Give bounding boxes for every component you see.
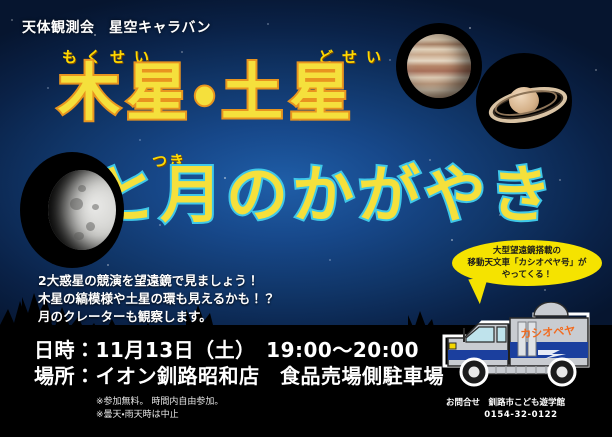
jupiter-photo [396, 23, 482, 109]
bubble-line-1: 大型望遠鏡搭載の [452, 245, 602, 257]
event-notes: ※参加無料。 時間内自由参加。 ※曇天・雨天時は中止 [96, 396, 223, 422]
moon-crater [74, 232, 84, 240]
moon-crater [78, 185, 86, 192]
description-text: 2大惑星の競演を望遠鏡で見ましょう！ 木星の縞模様や土星の環も見えるかも！？ 月… [38, 272, 275, 326]
description-line-3: 月のクレーターも観察します。 [38, 308, 275, 326]
contact-phone: 0154-32-0122 [446, 409, 596, 421]
main-title-line-2: と月のかがやき [94, 164, 556, 226]
description-line-2: 木星の縞模様や土星の環も見えるかも！？ [38, 290, 275, 308]
bubble-line-3: やってくる！ [452, 269, 602, 281]
contact-info: お問合せ 釧路市こども遊学館 0154-32-0122 [446, 397, 596, 421]
moon-photo [20, 152, 124, 268]
event-series-header: 天体観測会 星空キャラバン [22, 17, 211, 37]
moon-crater [86, 222, 95, 231]
event-datetime: 日時：11月13日（土） 19:00～20:00 [34, 337, 444, 363]
note-line-1: ※参加無料。 時間内自由参加。 [96, 396, 223, 409]
moon-crater [92, 204, 99, 210]
main-title-line-1: 木星・土星 [58, 62, 357, 124]
description-line-1: 2大惑星の競演を望遠鏡で見ましょう！ [38, 272, 275, 290]
observatory-truck-illustration: カシオペヤ [438, 302, 612, 394]
contact-organization: お問合せ 釧路市こども遊学館 [446, 397, 596, 409]
bubble-line-2: 移動天文車「カシオペヤ号」が [452, 257, 602, 269]
speech-bubble-text: 大型望遠鏡搭載の 移動天文車「カシオペヤ号」が やってくる！ [452, 245, 602, 281]
poster-root: 天体観測会 星空キャラバン もくせい どせい 木星・土星 つき と月のかがやき … [0, 0, 612, 437]
jupiter-disc [407, 34, 471, 98]
moon-crater [70, 198, 83, 210]
event-venue: 場所：イオン釧路昭和店 食品売場側駐車場 [34, 363, 444, 389]
speech-bubble: 大型望遠鏡搭載の 移動天文車「カシオペヤ号」が やってくる！ [452, 240, 602, 286]
event-details: 日時：11月13日（土） 19:00～20:00 場所：イオン釧路昭和店 食品売… [34, 337, 444, 389]
note-line-2: ※曇天・雨天時は中止 [96, 409, 223, 422]
moon-disc [48, 170, 116, 250]
saturn-photo [476, 53, 572, 149]
speech-bubble-tail [468, 277, 491, 306]
